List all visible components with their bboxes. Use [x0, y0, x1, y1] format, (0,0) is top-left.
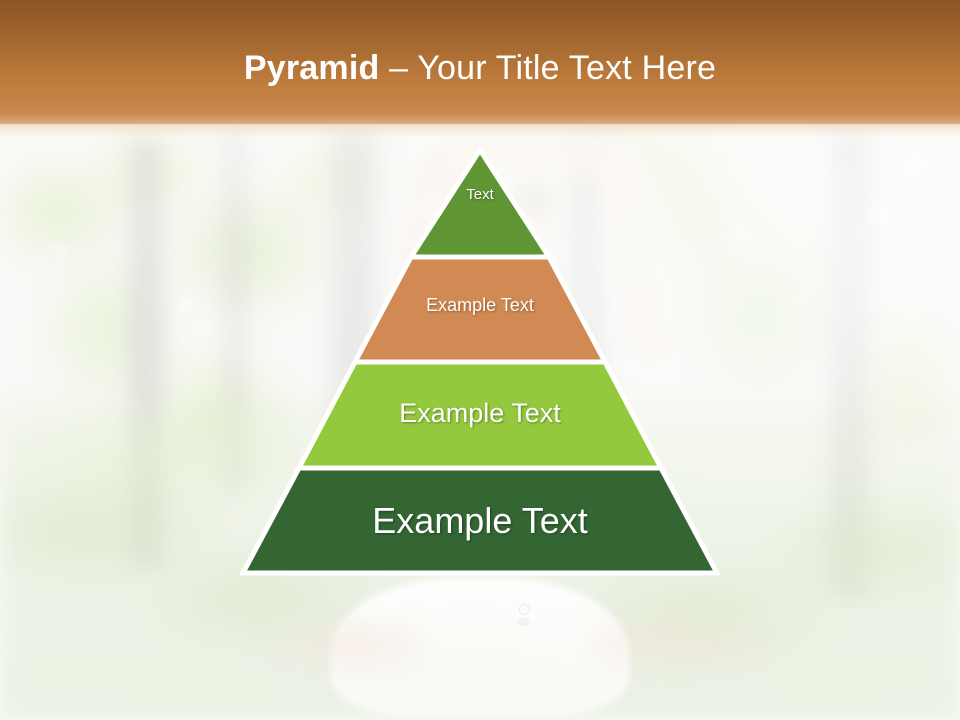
pyramid-tier-1[interactable] — [411, 150, 549, 257]
page-title: Pyramid – Your Title Text Here — [0, 48, 960, 88]
pyramid-tier-4[interactable] — [243, 468, 717, 573]
pyramid-tier-2[interactable] — [355, 257, 605, 362]
pyramid-tier-3[interactable] — [299, 362, 661, 468]
page-title-rest: – Your Title Text Here — [379, 49, 716, 87]
slide: Text Example Text Example Text Example T… — [0, 0, 960, 720]
title-banner-fade — [0, 112, 960, 138]
page-title-strong: Pyramid — [244, 49, 380, 87]
